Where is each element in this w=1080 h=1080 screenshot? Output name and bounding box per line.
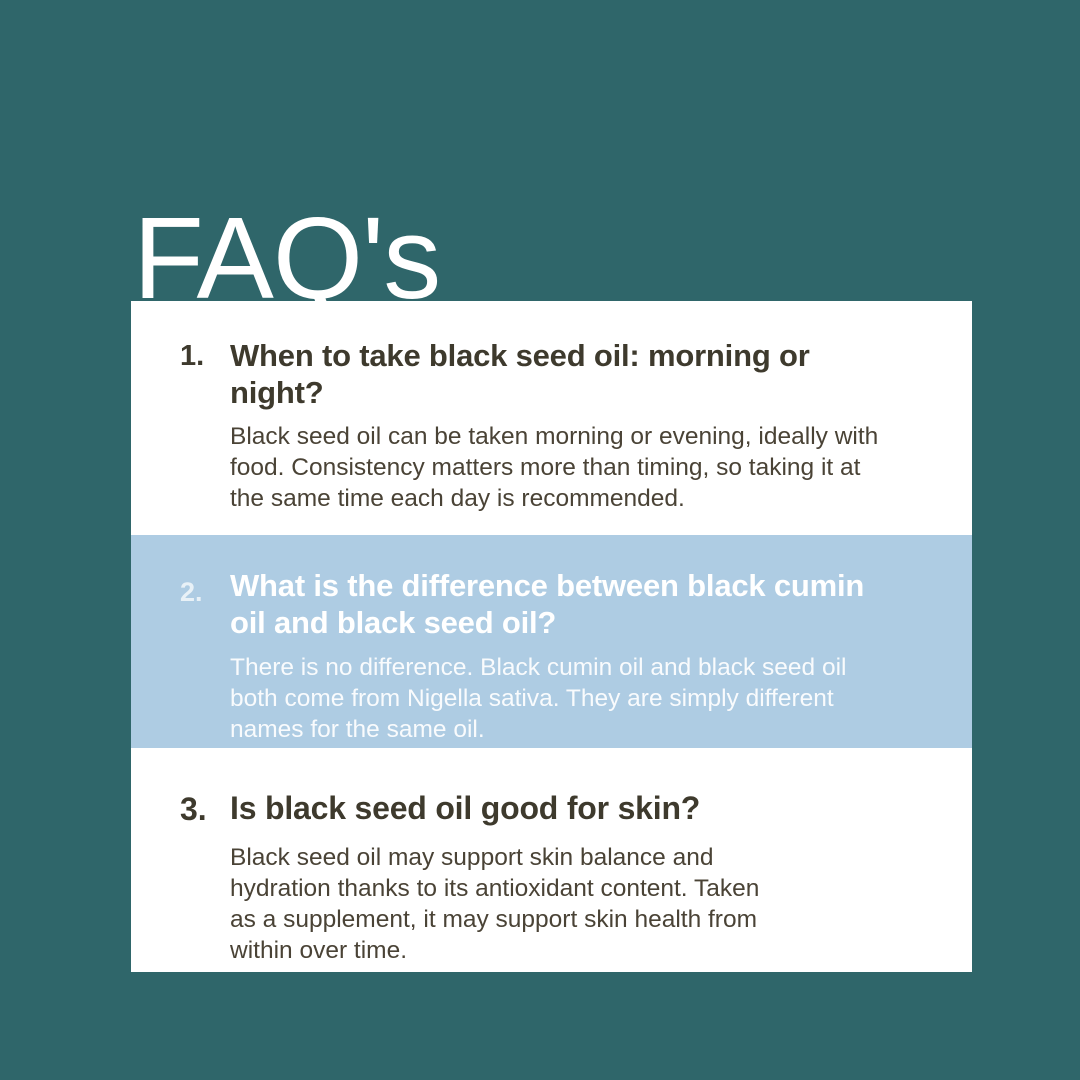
faq-item-1[interactable]: 1. When to take black seed oil: morning … [131, 301, 972, 535]
faq-answer-3: Black seed oil may support skin balance … [230, 842, 972, 966]
faq-number-3: 3. [131, 790, 230, 828]
faq-page: FAQ's 1. When to take black seed oil: mo… [0, 0, 1080, 1080]
faq-question-row-3: 3. Is black seed oil good for skin? [131, 790, 972, 828]
page-title: FAQ's [133, 200, 440, 316]
faq-item-3[interactable]: 3. Is black seed oil good for skin? Blac… [131, 748, 972, 972]
faq-number-1: 1. [131, 337, 230, 375]
faq-item-2[interactable]: 2. What is the difference between black … [131, 535, 972, 748]
faq-question-2: What is the difference between black cum… [230, 567, 972, 641]
faq-question-row-1: 1. When to take black seed oil: morning … [131, 337, 972, 411]
faq-answer-1: Black seed oil can be taken morning or e… [230, 421, 972, 514]
faq-number-2: 2. [131, 567, 230, 611]
faq-answer-2: There is no difference. Black cumin oil … [230, 652, 972, 745]
faq-question-row-2: 2. What is the difference between black … [131, 567, 972, 641]
faq-card: 1. When to take black seed oil: morning … [131, 301, 972, 972]
faq-question-3: Is black seed oil good for skin? [230, 790, 972, 827]
faq-question-1: When to take black seed oil: morning or … [230, 337, 972, 411]
